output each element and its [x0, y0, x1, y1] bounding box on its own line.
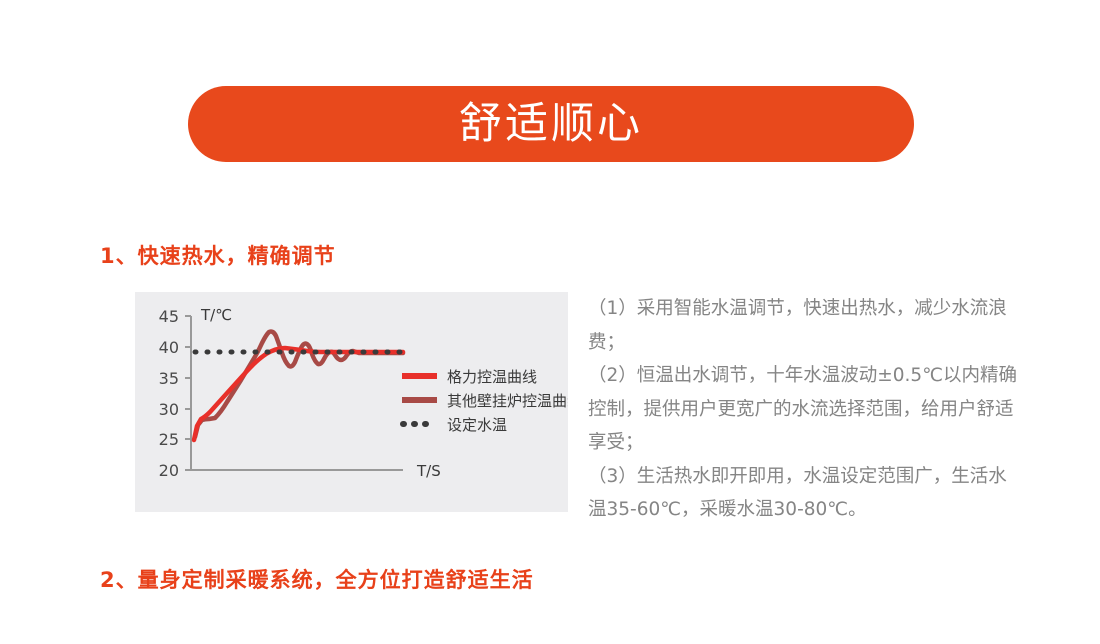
- feature-description-block: （1）采用智能水温调节，快速出热水，减少水流浪费； （2）恒温出水调节，十年水温…: [588, 292, 1020, 527]
- y-tick-label-40: 40: [159, 338, 179, 357]
- chart-svg: 45 40 35 30 25 20 T/℃ T/S 格力控温曲线 其他壁挂炉控温…: [135, 292, 568, 512]
- page-title: 舒适顺心: [459, 103, 643, 146]
- x-axis-title: T/S: [416, 462, 441, 480]
- y-tick-label-30: 30: [159, 400, 179, 419]
- page-title-banner: 舒适顺心: [188, 86, 914, 162]
- y-tick-label-45: 45: [159, 307, 179, 326]
- y-axis-title: T/℃: [200, 306, 232, 324]
- legend-label-setpoint: 设定水温: [447, 416, 507, 434]
- feature-paragraph-2: （2）恒温出水调节，十年水温波动±0.5℃以内精确控制，提供用户更宽广的水流选择…: [588, 359, 1020, 460]
- feature-paragraph-1: （1）采用智能水温调节，快速出热水，减少水流浪费；: [588, 292, 1020, 359]
- legend-label-gree: 格力控温曲线: [447, 368, 537, 386]
- chart-legend: 格力控温曲线 其他壁挂炉控温曲线 设定水温: [402, 368, 568, 434]
- section-heading-2: 2、量身定制采暖系统，全方位打造舒适生活: [100, 564, 534, 594]
- legend-label-other-boiler: 其他壁挂炉控温曲线: [447, 392, 568, 410]
- y-tick-label-35: 35: [159, 369, 179, 388]
- y-tick-label-25: 25: [159, 430, 179, 449]
- feature-paragraph-3: （3）生活热水即开即用，水温设定范围广，生活水温35-60℃，采暖水温30-80…: [588, 460, 1020, 527]
- temperature-control-chart: 45 40 35 30 25 20 T/℃ T/S 格力控温曲线 其他壁挂炉控温…: [135, 292, 568, 512]
- series-line-gree: [194, 348, 403, 440]
- y-tick-label-20: 20: [159, 461, 179, 480]
- section-heading-1: 1、快速热水，精确调节: [100, 240, 336, 270]
- series-line-other-boiler: [195, 332, 403, 438]
